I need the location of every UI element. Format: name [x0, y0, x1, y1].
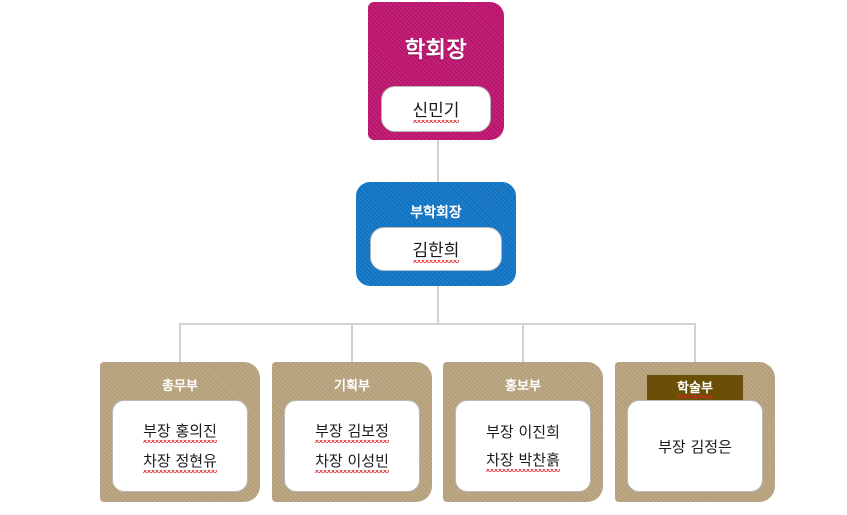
node-president-member-name: 신민기	[413, 96, 460, 123]
connector-bus-to-dept-2	[522, 323, 524, 363]
department-member: 차장 정현유	[143, 450, 217, 473]
department-member: 부장 이진희	[486, 421, 560, 442]
connector-horizontal-bus	[179, 323, 695, 325]
connector-vice-to-bus	[437, 286, 439, 324]
connector-bus-to-dept-3	[694, 323, 696, 363]
department-body-general-affairs[interactable]: 부장 홍의진 차장 정현유	[112, 400, 248, 492]
node-department-general-affairs[interactable]: 총무부 부장 홍의진 차장 정현유	[100, 362, 260, 502]
department-member-text: 차장 박찬흙	[486, 449, 560, 472]
node-vice-president[interactable]: 부학회장 김한희	[356, 182, 516, 286]
department-member-text: 차장 정현유	[143, 450, 217, 473]
department-member: 부장 홍의진	[143, 420, 217, 443]
node-vice-president-member-name: 김한희	[413, 236, 460, 263]
connector-president-to-vice	[437, 140, 439, 182]
department-body-academic[interactable]: 부장 김정은	[627, 400, 763, 492]
node-vice-president-body[interactable]: 김한희	[370, 227, 502, 271]
node-vice-president-title: 부학회장	[356, 182, 516, 222]
department-body-public-relations[interactable]: 부장 이진희 차장 박찬흙	[455, 400, 591, 492]
department-member: 부장 김정은	[658, 436, 732, 457]
department-title-academic-highlight: 학술부	[647, 375, 743, 401]
department-member-text: 부장 김보정	[315, 420, 389, 443]
node-department-academic[interactable]: 학술부 부장 김정은	[615, 362, 775, 502]
department-title-academic: 학술부	[677, 377, 713, 398]
connector-bus-to-dept-0	[179, 323, 181, 363]
department-title-general-affairs: 총무부	[100, 362, 260, 394]
node-president[interactable]: 학회장 신민기	[368, 2, 504, 140]
department-member-text: 부장 홍의진	[143, 420, 217, 443]
node-president-body[interactable]: 신민기	[381, 86, 491, 132]
org-chart-canvas: 학회장 신민기 부학회장 김한희 총무부 부장 홍의진 차장 정현유 기획부 부…	[0, 0, 847, 515]
department-member: 차장 박찬흙	[486, 449, 560, 472]
node-president-title: 학회장	[368, 2, 504, 64]
node-vice-president-member: 김한희	[413, 236, 460, 263]
connector-bus-to-dept-1	[351, 323, 353, 363]
department-member-text: 차장 이성빈	[315, 450, 389, 473]
node-department-planning[interactable]: 기획부 부장 김보정 차장 이성빈	[272, 362, 432, 502]
department-title-academic-wrapper: 학술부	[615, 362, 775, 401]
node-president-member: 신민기	[413, 96, 460, 123]
department-body-planning[interactable]: 부장 김보정 차장 이성빈	[284, 400, 420, 492]
department-member: 차장 이성빈	[315, 450, 389, 473]
node-department-public-relations[interactable]: 홍보부 부장 이진희 차장 박찬흙	[443, 362, 603, 502]
department-title-public-relations: 홍보부	[443, 362, 603, 394]
department-title-planning: 기획부	[272, 362, 432, 394]
department-member: 부장 김보정	[315, 420, 389, 443]
